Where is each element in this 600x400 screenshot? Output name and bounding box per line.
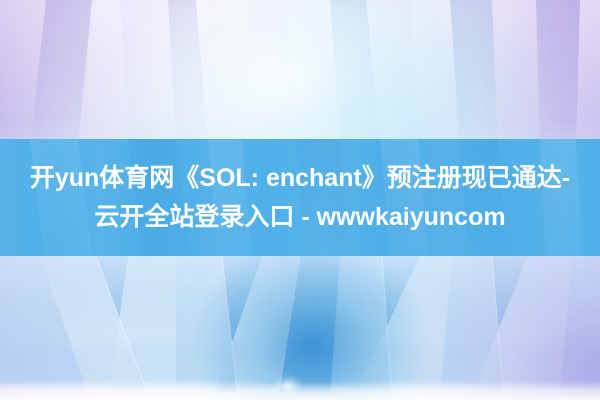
headline-band: 开yun体育网《SOL: enchant》预注册现已通达- 云开全站登录入口 -… xyxy=(0,139,600,256)
headline-line-2: 云开全站登录入口 - wwwkaiyuncom xyxy=(94,198,505,237)
headline-line-1: 开yun体育网《SOL: enchant》预注册现已通达- xyxy=(30,159,570,198)
banner-image: 开yun体育网《SOL: enchant》预注册现已通达- 云开全站登录入口 -… xyxy=(0,0,600,400)
